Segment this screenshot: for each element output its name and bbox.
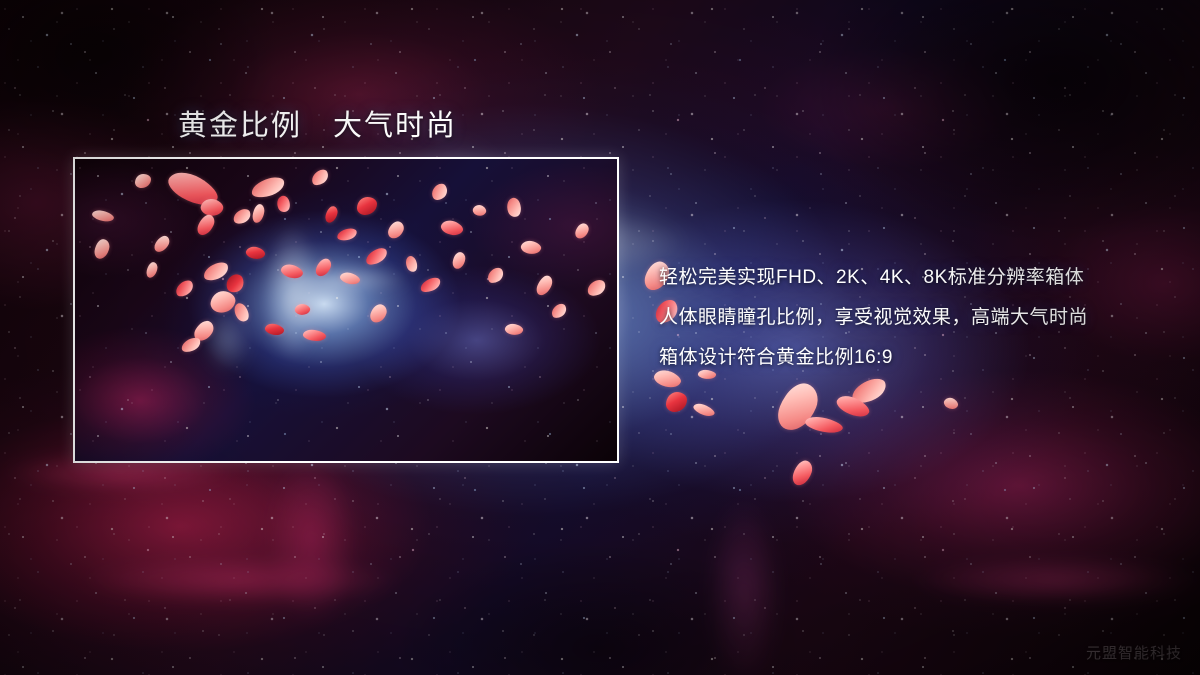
- page-title: 黄金比例 大气时尚: [178, 102, 457, 144]
- body-line-3: 箱体设计符合黄金比例16:9: [659, 338, 1088, 378]
- display-preview-panel[interactable]: [73, 157, 619, 463]
- body-line-2: 人体眼睛瞳孔比例，享受视觉效果，高端大气时尚: [659, 298, 1088, 338]
- panel-wisp-layer: [75, 159, 617, 461]
- watermark: 元盟智能科技: [1086, 642, 1182, 663]
- presentation-slide: 黄金比例 大气时尚 轻松完美实现FHD、2K、4K、8K标准分辨率箱体 人体眼睛…: [0, 0, 1200, 675]
- body-text-block: 轻松完美实现FHD、2K、4K、8K标准分辨率箱体 人体眼睛瞳孔比例，享受视觉效…: [659, 258, 1088, 378]
- body-line-1: 轻松完美实现FHD、2K、4K、8K标准分辨率箱体: [659, 258, 1088, 298]
